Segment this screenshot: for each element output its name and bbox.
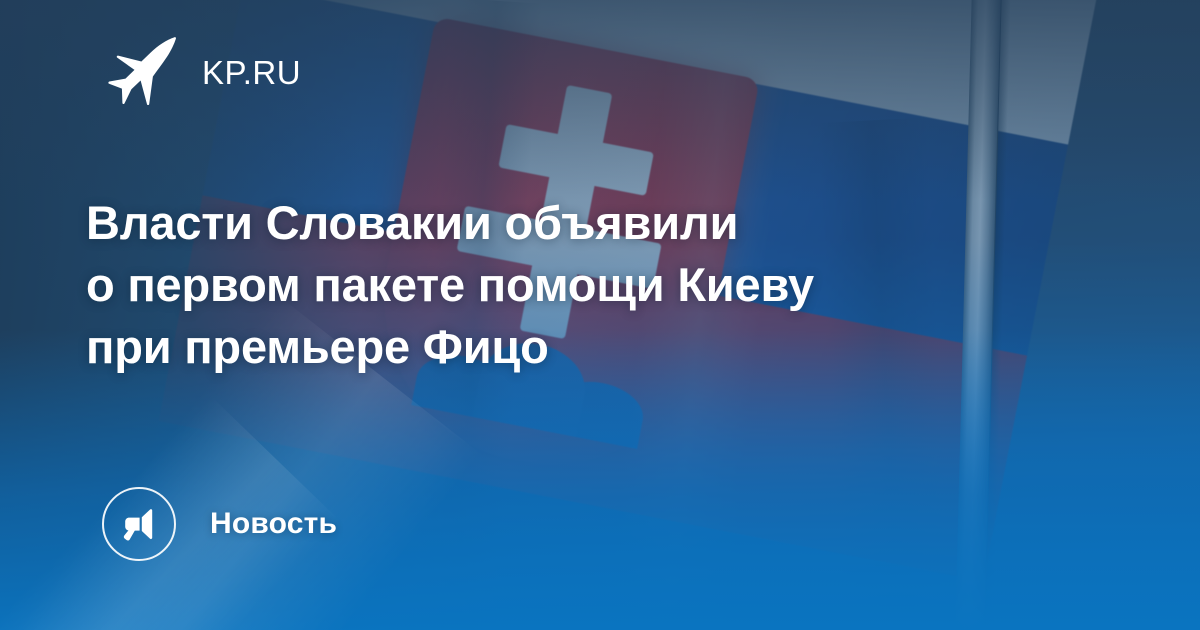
swallow-bird-icon <box>104 34 180 110</box>
badge-label: Новость <box>210 509 337 539</box>
headline: Власти Словакии объявили о первом пакете… <box>86 192 1026 378</box>
card-content: KP.RU Власти Словакии объявили о первом … <box>0 0 1200 630</box>
headline-line-2: о первом пакете помощи Киеву <box>86 254 1026 316</box>
megaphone-icon <box>102 487 176 561</box>
content-type-badge[interactable]: Новость <box>102 487 337 561</box>
headline-line-3: при премьере Фицо <box>86 316 1026 378</box>
site-logo[interactable]: KP.RU <box>104 34 301 110</box>
logo-wordmark: KP.RU <box>202 56 301 89</box>
share-card: KP.RU Власти Словакии объявили о первом … <box>0 0 1200 630</box>
headline-line-1: Власти Словакии объявили <box>86 192 1026 254</box>
